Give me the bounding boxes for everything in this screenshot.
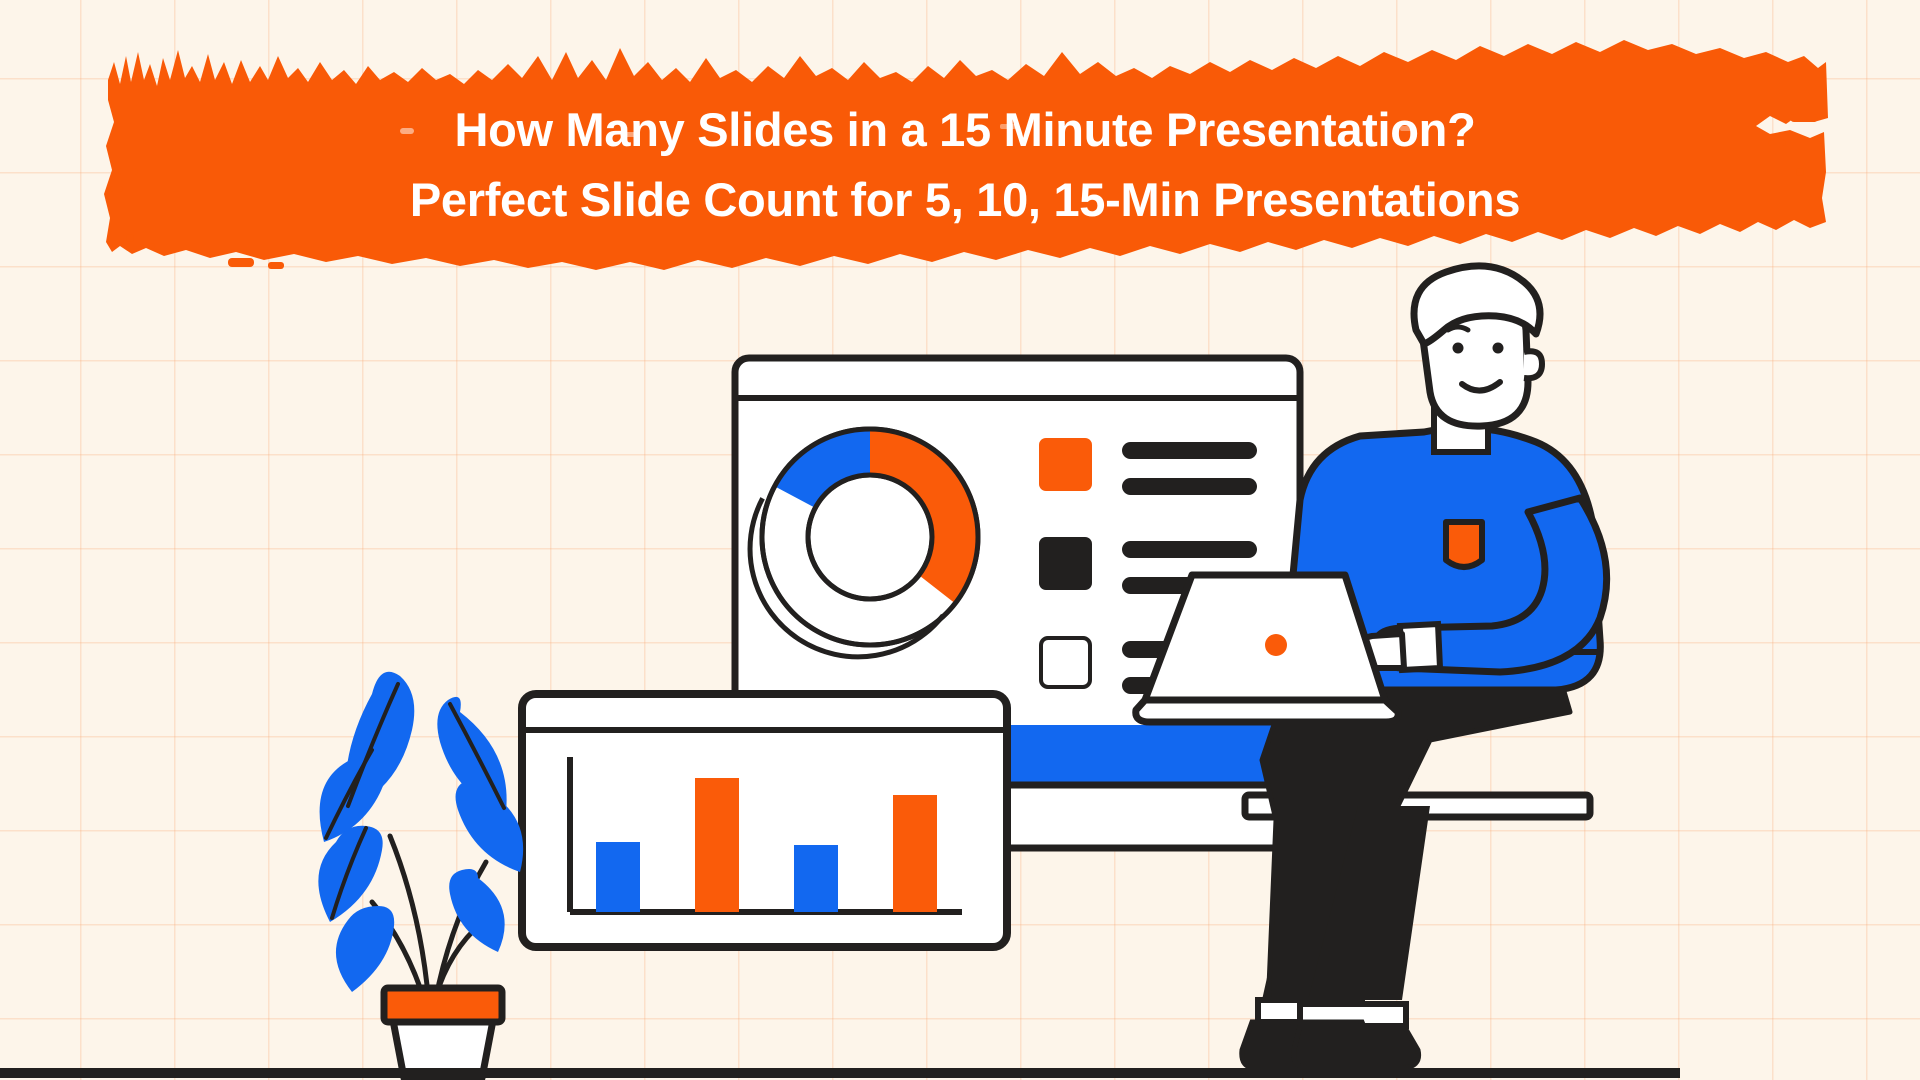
plant-leaf (336, 906, 394, 992)
bar-chart-bar (893, 795, 937, 912)
potted-plant (318, 672, 523, 1078)
page-title: How Many Slides in a 15 Minute Presentat… (110, 95, 1820, 235)
title-line-2: Perfect Slide Count for 5, 10, 15-Min Pr… (110, 165, 1820, 235)
person-badge (1446, 522, 1482, 567)
person-shoe-front (1294, 1026, 1419, 1068)
laptop-logo-dot (1265, 634, 1287, 656)
plant-leaf (456, 778, 524, 872)
legend-swatch-outline (1041, 638, 1090, 687)
person-eye-right (1493, 343, 1504, 354)
legend-text-bar (1122, 442, 1257, 459)
laptop-base (1136, 700, 1398, 722)
person-eye-left (1453, 343, 1464, 354)
plant-pot-rim (384, 988, 502, 1022)
bar-chart-bar (794, 845, 838, 912)
title-line-1: How Many Slides in a 15 Minute Presentat… (110, 95, 1820, 165)
bar-chart-panel (522, 694, 1007, 947)
plant-leaf (449, 869, 504, 952)
bar-chart-bar (695, 778, 739, 912)
legend-swatch-orange (1039, 438, 1092, 491)
person-ear (1524, 351, 1542, 378)
legend-swatch-dark (1039, 537, 1092, 590)
bar-chart-bar (596, 842, 640, 912)
legend-text-bar (1122, 541, 1257, 558)
legend-text-bar (1122, 478, 1257, 495)
